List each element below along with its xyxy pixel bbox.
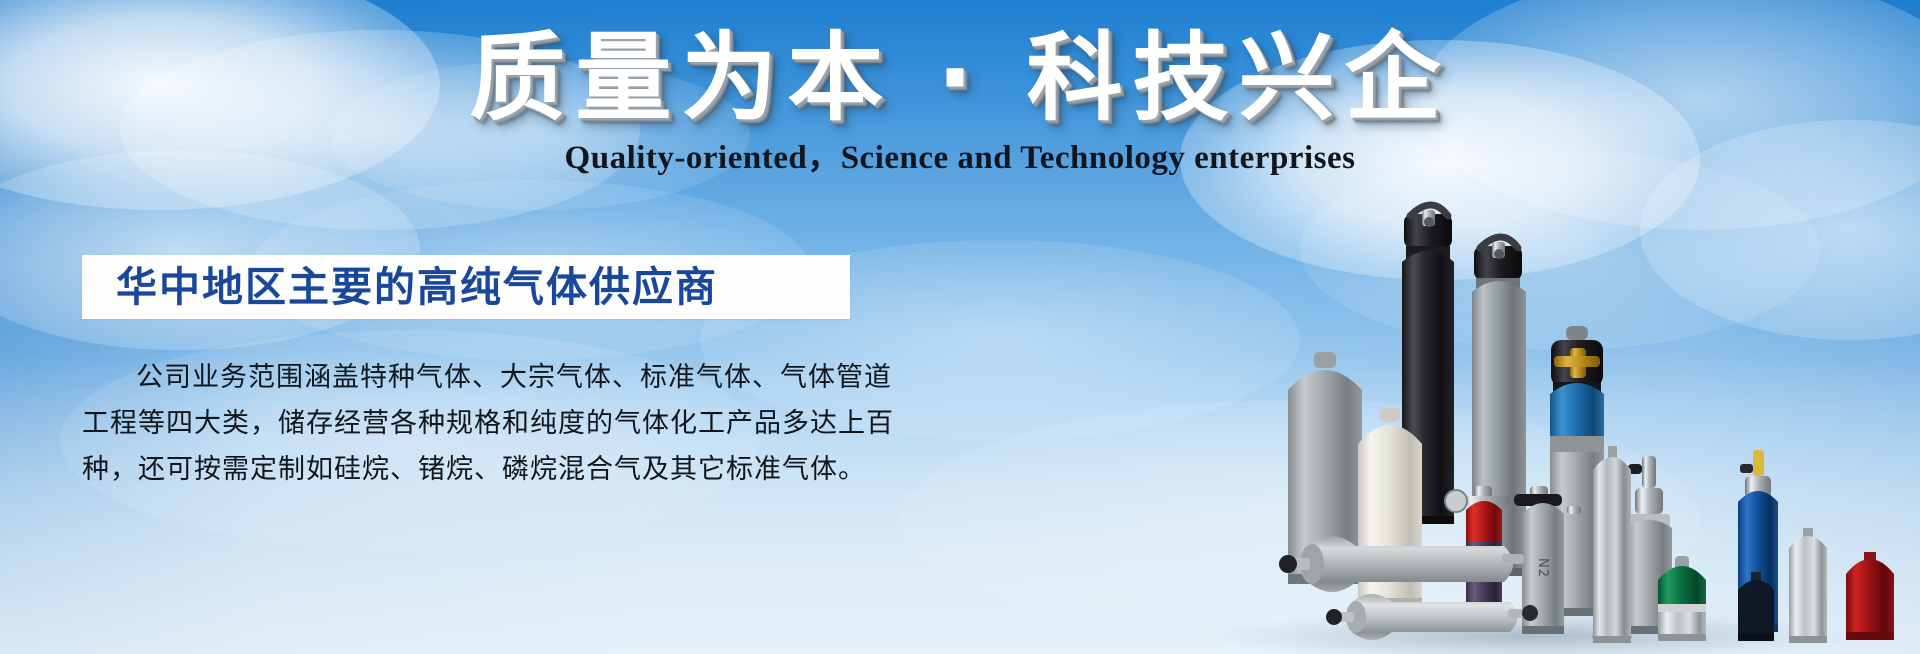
- description-line: 公司业务范围涵盖特种气体、大宗气体、标准气体、气体管道: [82, 355, 882, 401]
- description-line: 工程等四大类，储存经营各种规格和纯度的气体化工产品多达上百: [82, 401, 882, 447]
- gas-cylinders-photo: N2: [1130, 150, 1920, 654]
- page-title: 质量为本 · 科技兴企: [0, 22, 1920, 134]
- cylinder-aluminium-tall-right: [1789, 528, 1827, 643]
- tagline-box: 华中地区主要的高纯气体供应商: [82, 255, 850, 319]
- description-paragraph: 公司业务范围涵盖特种气体、大宗气体、标准气体、气体管道 工程等四大类，储存经营各…: [82, 355, 882, 493]
- svg-text:N2: N2: [1535, 558, 1550, 578]
- cylinder-red-right: [1846, 552, 1894, 640]
- cylinder-aluminium-medium: [1593, 446, 1631, 643]
- tagline-text: 华中地区主要的高纯气体供应商: [82, 255, 718, 319]
- description-line: 种，还可按需定制如硅烷、锗烷、磷烷混合气及其它标准气体。: [82, 447, 882, 493]
- promotional-banner: N2: [0, 0, 1920, 654]
- subtitle: Quality-oriented，Science and Technology …: [0, 136, 1920, 180]
